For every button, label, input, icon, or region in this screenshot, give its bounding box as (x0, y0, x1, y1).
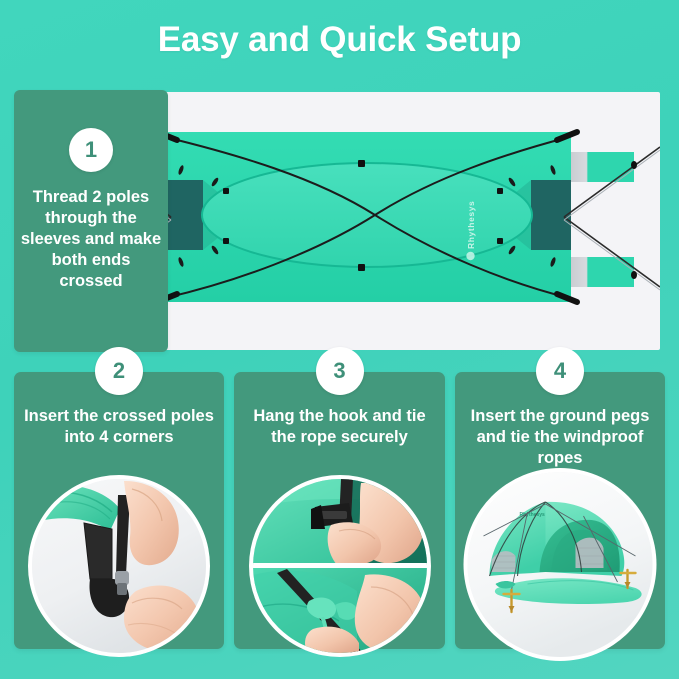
photo-inner: Rhythesys (468, 472, 653, 657)
step-badge-4-number: 4 (536, 347, 584, 395)
step-badge-1-number: 1 (69, 128, 113, 172)
step-panel-4: 4 Insert the ground pegs and tie the win… (455, 372, 665, 649)
photo-ring (249, 475, 431, 657)
step-panel-3: 3 Hang the hook and tie the rope securel… (234, 372, 445, 649)
step4-photo-assembled-tent: Rhythesys (464, 468, 657, 661)
step-badge-3-number: 3 (316, 347, 364, 395)
step-caption-1: Thread 2 poles through the sleeves and m… (20, 187, 162, 293)
photo-inner (32, 479, 206, 653)
step-caption-3: Hang the hook and tie the rope securely (242, 406, 437, 448)
infographic-page: Easy and Quick Setup (0, 0, 679, 679)
step-caption-4: Insert the ground pegs and tie the windp… (463, 406, 657, 469)
page-title: Easy and Quick Setup (0, 20, 679, 60)
step-badge-4: 4 (536, 347, 584, 395)
step-panel-1: 1 Thread 2 poles through the sleeves and… (14, 90, 168, 352)
brand-logo-text: Rhythesys (466, 201, 476, 249)
photo-ring: Rhythesys (464, 468, 657, 661)
step-badge-2: 2 (95, 347, 143, 395)
step-badge-2-number: 2 (95, 347, 143, 395)
photo-ring (28, 475, 210, 657)
step-panel-2: 2 Insert the crossed poles into 4 corner… (14, 372, 224, 649)
step3-photo-hook-and-rope (249, 475, 431, 657)
photo-inner (253, 479, 427, 653)
step-badge-1: 1 (69, 128, 113, 172)
step-caption-2: Insert the crossed poles into 4 corners (22, 406, 216, 448)
step2-photo-hand-inserting-pole (28, 475, 210, 657)
step-badge-3: 3 (316, 347, 364, 395)
